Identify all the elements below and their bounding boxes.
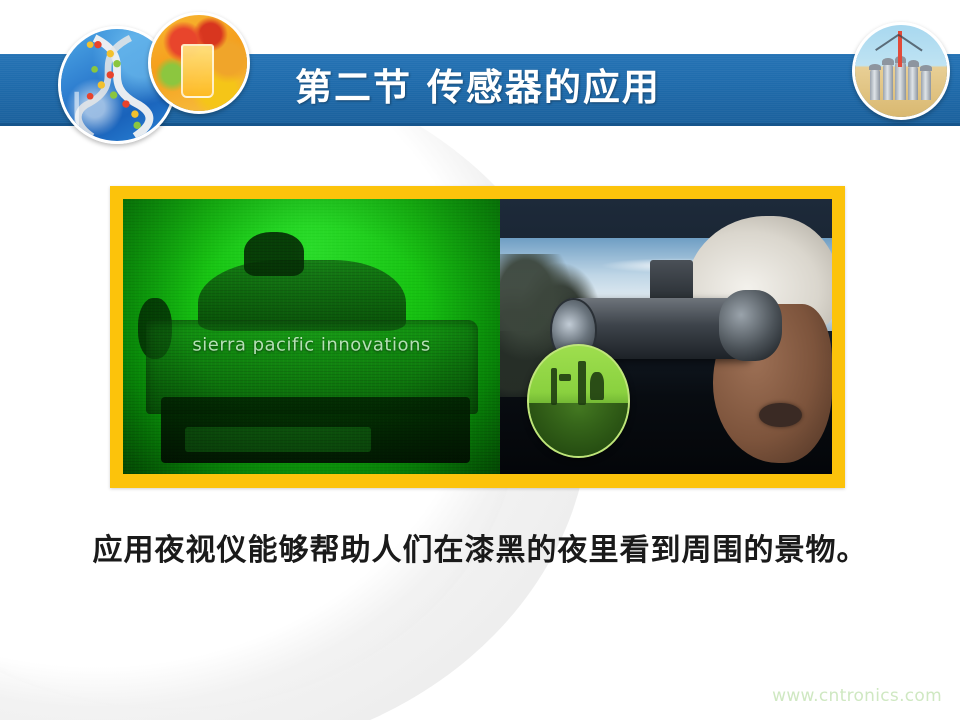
night-vision-tank-photo: sierra pacific innovations [123,199,500,474]
juice-circle-icon [148,12,250,114]
footer-watermark: www.cntronics.com [772,686,942,706]
juice-glass-shape [181,44,214,98]
green-night-view-inset [527,344,631,458]
photo-inner: sierra pacific innovations [123,199,832,474]
page-title: 第二节 传感器的应用 [295,60,661,115]
soldier-goggles-photo [500,199,832,474]
photo-frame: sierra pacific innovations [110,186,845,488]
slide-caption: 应用夜视仪能够帮助人们在漆黑的夜里看到周围的景物。 [0,528,960,574]
soldier-lips-shape [759,403,802,428]
goggle-eyecup-shape [719,290,782,362]
grain-silo-circle-icon [852,22,950,120]
photo-watermark-text: sierra pacific innovations [192,334,430,355]
